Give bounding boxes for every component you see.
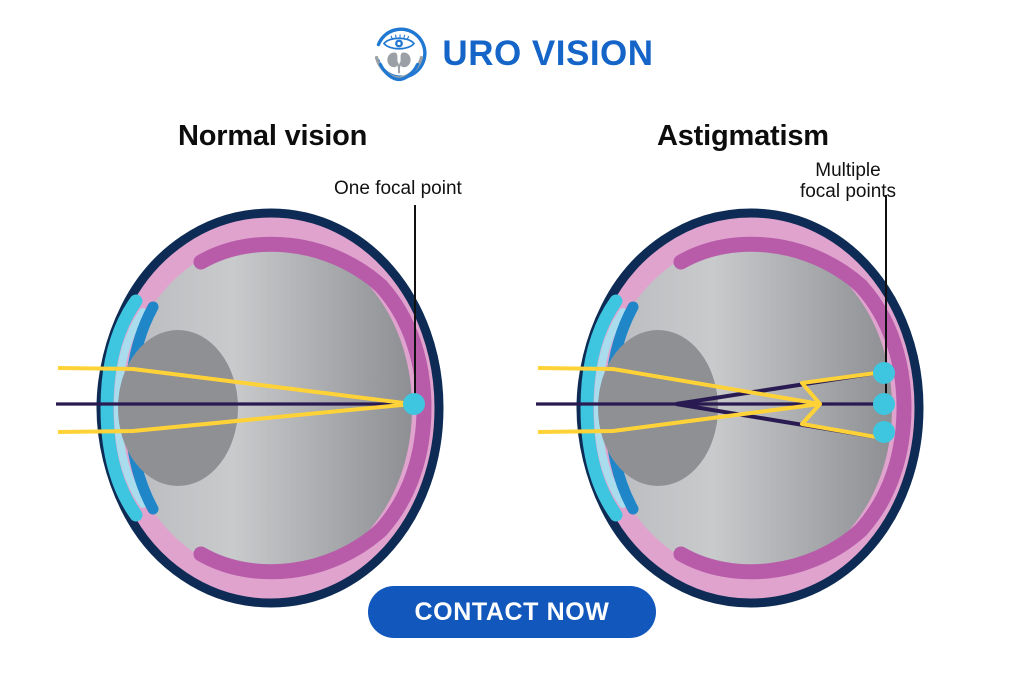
retina-arc-top-astig — [681, 244, 861, 286]
light-ray-lower-normal — [58, 404, 412, 432]
eye-diagram-normal-vision — [56, 205, 439, 603]
focal-point-dot-lower-astig — [873, 421, 895, 443]
light-ray-upper-normal — [58, 368, 412, 404]
retina-posterior-normal — [381, 286, 424, 530]
lens-body-astig — [598, 330, 718, 486]
cornea-inner-normal — [118, 312, 143, 504]
sclera-outline-normal — [101, 213, 439, 603]
vitreous-chamber-normal — [123, 240, 412, 576]
callout-multiple-focal-points: Multiple focal points — [800, 160, 896, 203]
dark-ray-to-lower-focus-astig — [676, 404, 876, 437]
retina-arc-top-normal — [201, 244, 381, 286]
eye-diagram-astigmatism — [536, 195, 919, 603]
sclera-outline-astig — [581, 213, 919, 603]
contact-now-button[interactable]: CONTACT NOW — [368, 586, 656, 638]
lens-capsule-astig — [610, 307, 633, 509]
eye-diagrams — [0, 0, 1024, 682]
eye-kidney-logo-icon — [370, 24, 428, 82]
panel-title-astigmatism: Astigmatism — [657, 120, 829, 153]
focal-point-dot-upper-astig — [873, 362, 895, 384]
retina-posterior-astig — [861, 286, 904, 530]
brand-header: URO VISION — [0, 22, 1024, 84]
cornea-outer-normal — [107, 301, 136, 515]
dark-ray-to-upper-focus-astig — [676, 373, 876, 404]
retina-arc-bottom-normal — [201, 530, 381, 572]
vitreous-chamber-astig — [603, 240, 892, 576]
cornea-outer-astig — [587, 301, 616, 515]
brand-wordmark: URO VISION — [442, 36, 653, 71]
panel-title-normal-vision: Normal vision — [178, 120, 367, 153]
lens-capsule-normal — [130, 307, 153, 509]
callout-multiple-line-1: Multiple — [815, 160, 880, 181]
callout-multiple-line-2: focal points — [800, 181, 896, 202]
light-ray-lower-astig — [538, 404, 876, 437]
light-ray-upper-astig — [538, 368, 876, 404]
focal-point-dot-normal — [403, 393, 425, 415]
lens-body-normal — [118, 330, 238, 486]
cornea-inner-astig — [598, 312, 623, 504]
focal-point-dot-middle-astig — [873, 393, 895, 415]
callout-one-focal-point: One focal point — [334, 178, 462, 199]
retina-arc-bottom-astig — [681, 530, 861, 572]
